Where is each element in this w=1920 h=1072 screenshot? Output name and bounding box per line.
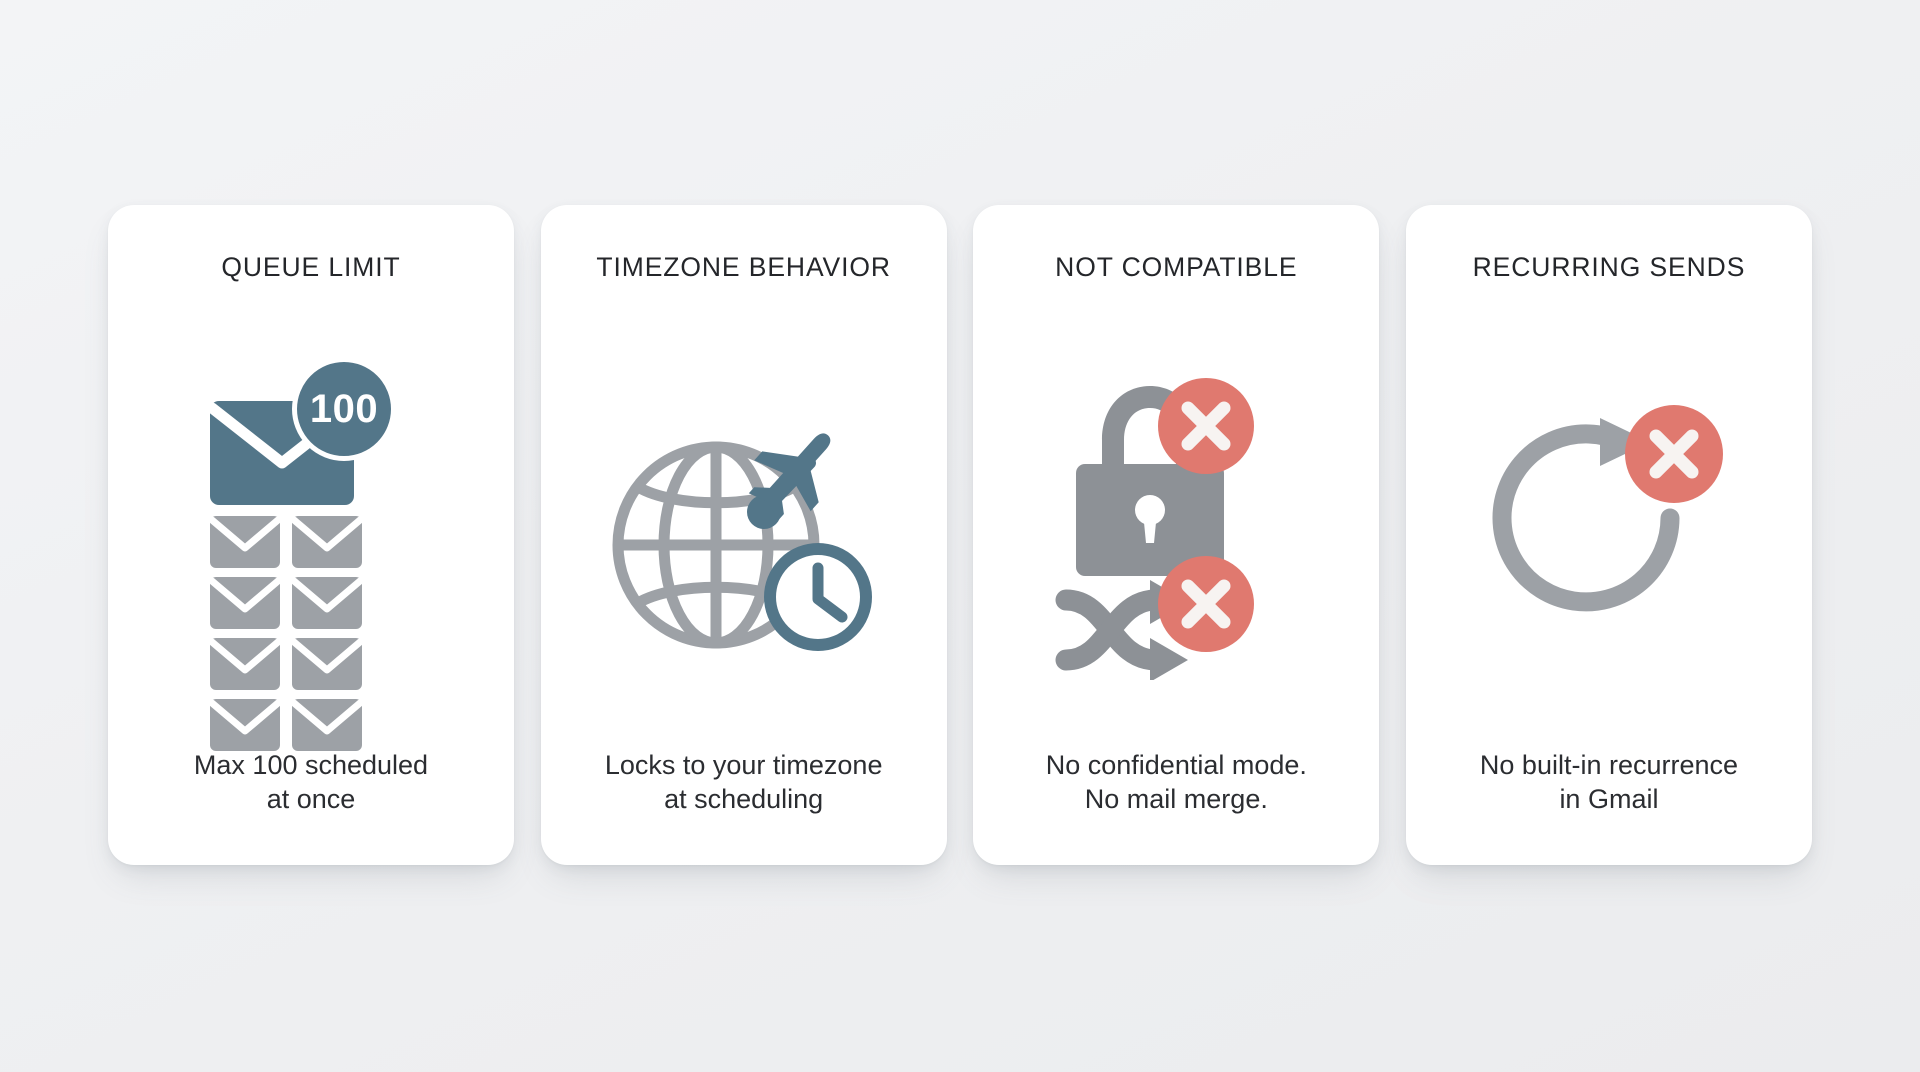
card-queue-limit[interactable]: QUEUE LIMIT 100 (108, 205, 514, 865)
infographic-canvas: QUEUE LIMIT 100 (0, 0, 1920, 1072)
card-description-line-2: at once (194, 782, 428, 817)
card-icon-area (1432, 292, 1786, 748)
envelope-small-icon (210, 699, 280, 751)
card-recurring-sends[interactable]: RECURRING SENDS (1406, 205, 1812, 865)
envelope-small-icon (292, 516, 362, 568)
card-description: No confidential mode. No mail merge. (1046, 748, 1307, 821)
envelope-small-icon (292, 577, 362, 629)
card-timezone-behavior[interactable]: TIMEZONE BEHAVIOR (541, 205, 947, 865)
card-description: Locks to your timezone at scheduling (605, 748, 883, 821)
card-description-line-1: Locks to your timezone (605, 748, 883, 783)
card-description-line-2: at scheduling (605, 782, 883, 817)
shuffle-icon (1066, 600, 1156, 660)
envelope-small-icon (292, 638, 362, 690)
card-description-line-1: Max 100 scheduled (194, 748, 428, 783)
card-description-line-1: No confidential mode. (1046, 748, 1307, 783)
clock-icon (770, 549, 866, 645)
blocked-badge-lock-icon (1158, 378, 1254, 474)
card-icon-area (567, 292, 921, 748)
card-description: Max 100 scheduled at once (194, 748, 428, 821)
feature-cards-row: QUEUE LIMIT 100 (108, 205, 1812, 865)
card-title: TIMEZONE BEHAVIOR (596, 253, 891, 282)
envelope-small-icon (210, 638, 280, 690)
globe-airplane-clock-icon (604, 375, 884, 665)
envelope-stack-icon: 100 (196, 353, 426, 683)
envelope-small-icon (292, 699, 362, 751)
card-description-line-1: No built-in recurrence (1480, 748, 1738, 783)
queue-count-value: 100 (310, 389, 378, 429)
envelope-small-grid (210, 516, 362, 751)
lock-blocked-shuffle-blocked-icon (1046, 360, 1306, 680)
card-title: QUEUE LIMIT (221, 253, 400, 282)
blocked-badge-recurring-icon (1625, 405, 1723, 503)
card-description-line-2: in Gmail (1480, 782, 1738, 817)
card-description-line-2: No mail merge. (1046, 782, 1307, 817)
card-title: NOT COMPATIBLE (1055, 253, 1297, 282)
blocked-badge-shuffle-icon (1158, 556, 1254, 652)
card-icon-area: 100 (134, 292, 488, 748)
card-title: RECURRING SENDS (1473, 253, 1746, 282)
recurring-arrow-blocked-icon (1474, 380, 1744, 660)
card-not-compatible[interactable]: NOT COMPATIBLE (973, 205, 1379, 865)
queue-count-badge: 100 (292, 357, 396, 461)
card-description: No built-in recurrence in Gmail (1480, 748, 1738, 821)
envelope-small-icon (210, 516, 280, 568)
card-icon-area (999, 292, 1353, 748)
envelope-small-icon (210, 577, 280, 629)
